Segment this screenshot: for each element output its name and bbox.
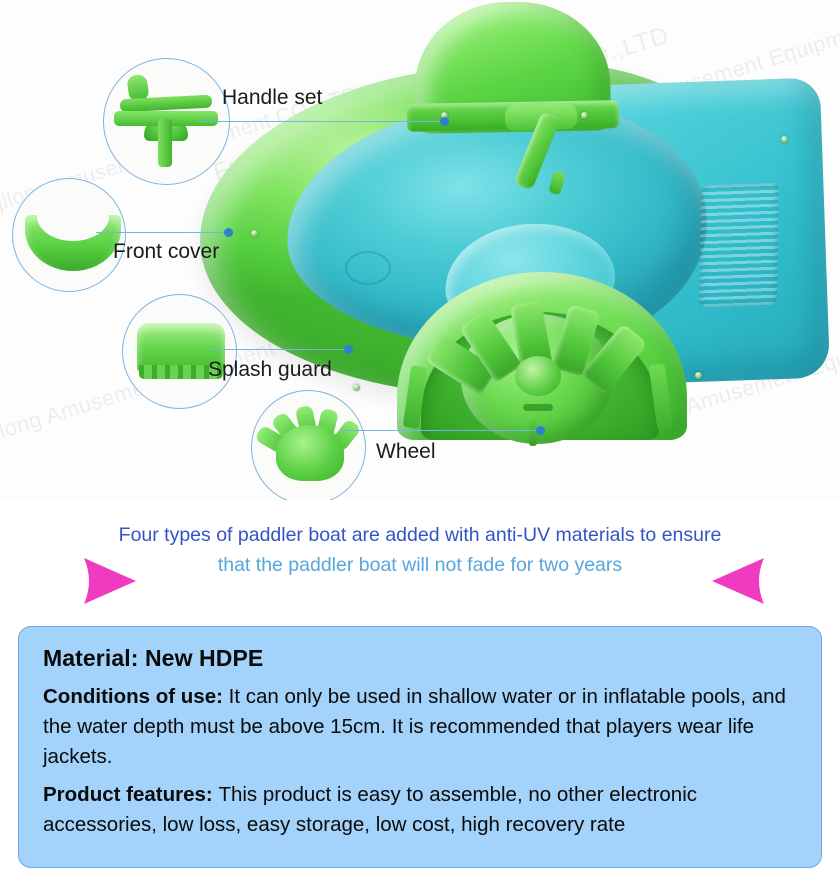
callout-circle-wheel[interactable] <box>251 390 366 500</box>
product-photo-area: Fujilong Amusement Equipment CO.,LTD Fuj… <box>0 0 840 500</box>
product-features-separator: : <box>206 783 219 806</box>
callout-dot-splash-guard <box>344 345 353 354</box>
screw-icon <box>581 112 588 119</box>
product-info-box: Material: New HDPE Conditions of use: It… <box>18 626 822 868</box>
callout-dot-wheel <box>536 426 545 435</box>
product-infographic-page: Fujilong Amusement Equipment CO.,LTD Fuj… <box>0 0 840 883</box>
product-features-label: Product features <box>43 783 206 806</box>
paddle-wheel-slot <box>523 404 553 411</box>
splash-guard-thumbnail <box>123 295 236 408</box>
screw-icon <box>781 136 788 143</box>
callout-dot-handle-set <box>440 117 449 126</box>
screw-icon <box>695 372 702 379</box>
screw-icon <box>353 384 360 391</box>
callout-circle-front-cover[interactable] <box>12 178 126 292</box>
front-cover-thumbnail <box>13 179 125 291</box>
conditions-of-use-row: Conditions of use: It can only be used i… <box>43 682 797 772</box>
conditions-of-use-label: Conditions of use <box>43 685 216 708</box>
callout-circle-splash-guard[interactable] <box>122 294 237 409</box>
callout-label-splash-guard: Splash guard <box>208 358 332 382</box>
wheel-thumbnail <box>252 391 365 500</box>
callout-line-wheel <box>340 430 540 431</box>
material-heading: Material: New HDPE <box>43 645 797 672</box>
paddle-wheel-hub-center <box>515 356 561 396</box>
screw-icon <box>251 230 258 237</box>
callout-label-wheel: Wheel <box>376 440 436 464</box>
boat-drain-detail <box>345 251 391 285</box>
callout-label-handle-set: Handle set <box>222 86 322 110</box>
conditions-of-use-separator: : <box>216 685 229 708</box>
callout-line-splash-guard <box>208 349 348 350</box>
callout-dot-front-cover <box>224 228 233 237</box>
boat-stern-panel <box>699 183 779 308</box>
callout-label-front-cover: Front cover <box>113 240 219 264</box>
product-features-row: Product features: This product is easy t… <box>43 780 797 840</box>
callout-line-front-cover <box>96 232 228 233</box>
callout-line-handle-set <box>196 121 444 122</box>
tagline-line-1: Four types of paddler boat are added wit… <box>0 520 840 550</box>
